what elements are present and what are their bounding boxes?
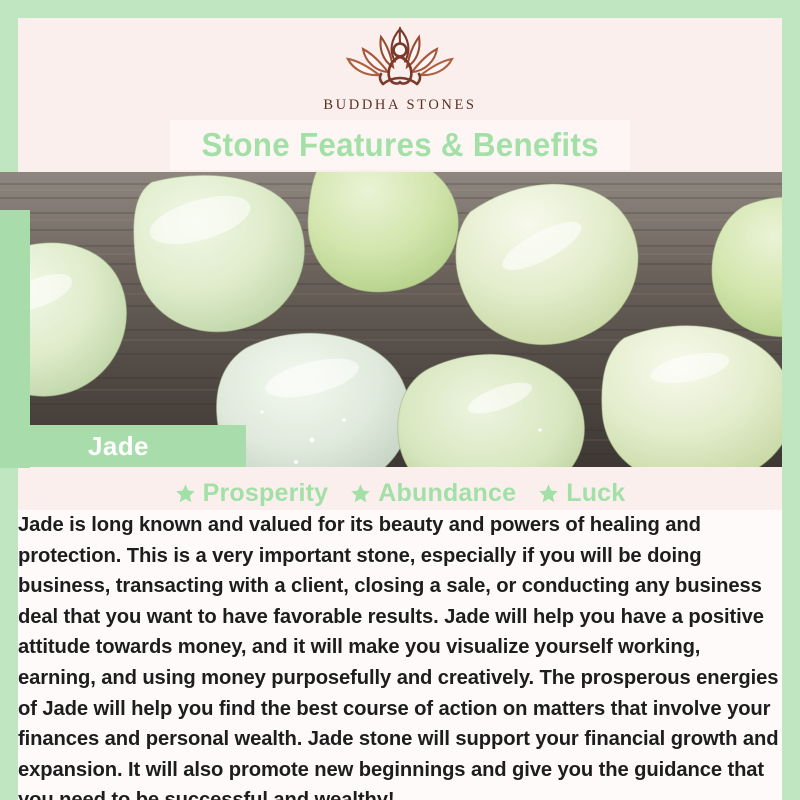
star-icon <box>175 483 196 504</box>
keyword-item: Prosperity <box>175 479 329 508</box>
page-title: Stone Features & Benefits <box>201 126 598 164</box>
brand-logo: BUDDHA STONES <box>323 23 476 114</box>
frame-band-top <box>0 0 800 18</box>
keyword-label: Luck <box>566 479 625 508</box>
lotus-meditating-figure-icon <box>325 23 475 95</box>
stone-description: Jade is long known and valued for its be… <box>18 510 782 800</box>
brand-name: BUDDHA STONES <box>323 97 476 114</box>
stone-keyword-list: Prosperity Abundance Luck <box>18 476 782 510</box>
star-icon <box>350 483 371 504</box>
section-title-banner: Stone Features & Benefits <box>170 120 630 170</box>
keyword-item: Luck <box>538 479 625 508</box>
stone-name: Jade <box>88 431 149 462</box>
stone-name-band: Jade <box>18 425 246 467</box>
stone-info-poster: BUDDHA STONES <box>0 0 800 800</box>
keyword-label: Prosperity <box>203 479 329 508</box>
keyword-item: Abundance <box>350 479 516 508</box>
brand-header: BUDDHA STONES <box>18 18 782 118</box>
keyword-label: Abundance <box>378 479 516 508</box>
photo-accent-bar-right <box>782 172 800 467</box>
stone-photo <box>0 172 800 467</box>
star-icon <box>538 483 559 504</box>
stone-photo-illustration <box>0 172 800 467</box>
